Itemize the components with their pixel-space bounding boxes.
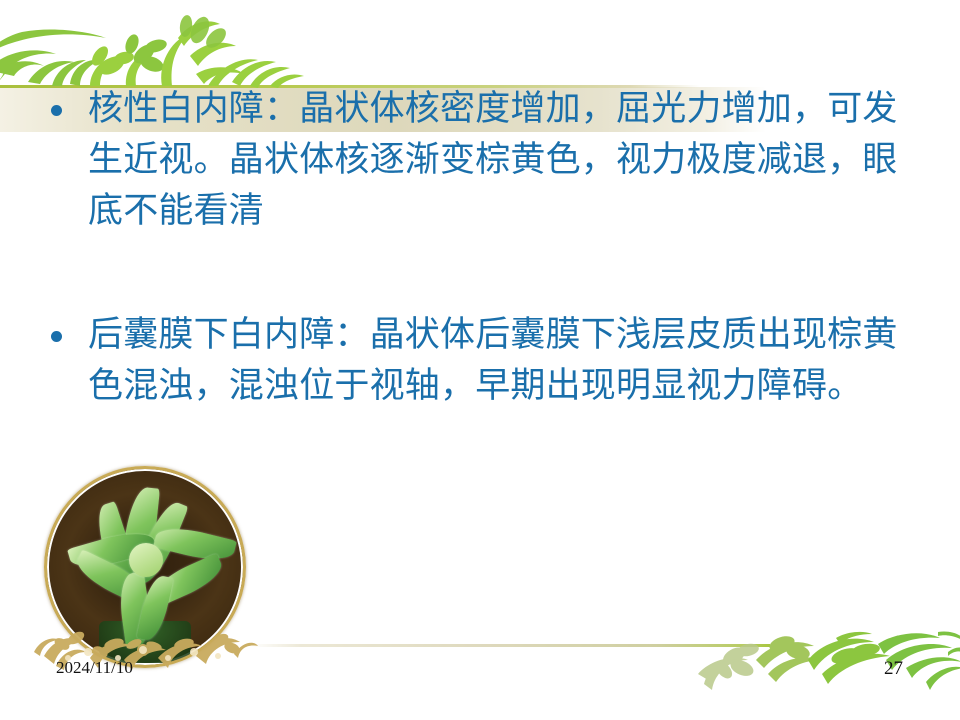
plant-photo [44,466,240,662]
slide-canvas: 核性白内障：晶状体核密度增加，屈光力增加，可发生近视。晶状体核逐渐变棕黄色，视力… [0,0,960,720]
plant-leaf [129,543,163,577]
bullet-text: 核性白内障：晶状体核密度增加，屈光力增加，可发生近视。晶状体核逐渐变棕黄色，视力… [88,84,924,237]
list-item: 后囊膜下白内障：晶状体后囊膜下浅层皮质出现棕黄色混浊，混浊位于视轴，早期出现明显… [38,310,924,412]
bullet-dot-icon [51,331,62,342]
plant-photo-oval-frame [44,466,246,668]
list-item: 核性白内障：晶状体核密度增加，屈光力增加，可发生近视。晶状体核逐渐变棕黄色，视力… [38,84,924,237]
bullet-text: 后囊膜下白内障：晶状体后囊膜下浅层皮质出现棕黄色混浊，混浊位于视轴，早期出现明显… [88,310,924,412]
bullet-dot-icon [51,105,62,116]
footer-page-number: 27 [884,658,903,680]
footer-date: 2024/11/10 [56,658,133,678]
bullet-list: 核性白内障：晶状体核密度增加，屈光力增加，可发生近视。晶状体核逐渐变棕黄色，视力… [38,84,924,412]
